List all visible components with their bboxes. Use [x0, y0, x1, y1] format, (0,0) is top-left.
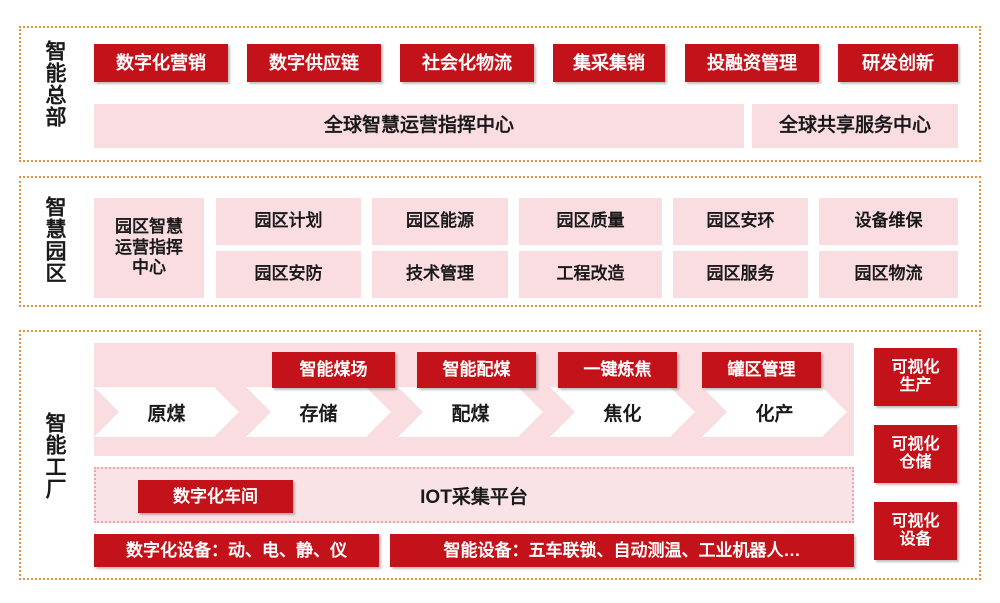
hq-band-global-shared-service[interactable]: 全球共享服务中心 — [752, 104, 958, 148]
viz-equipment-line-1: 可视化 — [891, 513, 939, 531]
park-cell-security[interactable]: 园区安防 — [216, 251, 361, 298]
park-cell-safety-env[interactable]: 园区安环 — [673, 198, 808, 245]
park-center-ops-command[interactable]: 园区智慧 运营指挥 中心 — [94, 198, 204, 298]
plant-system-smart-coal-yard[interactable]: 智能煤场 — [272, 352, 395, 388]
park-cell-plan[interactable]: 园区计划 — [216, 198, 361, 245]
park-cell-quality[interactable]: 园区质量 — [519, 198, 662, 245]
plant-viz-warehouse[interactable]: 可视化 仓储 — [874, 425, 957, 483]
viz-production-line-1: 可视化 — [891, 359, 939, 377]
hq-chip-centralized-trade[interactable]: 集采集销 — [553, 44, 665, 82]
plant-system-tank-farm-mgmt[interactable]: 罐区管理 — [702, 352, 821, 388]
hq-chip-rd-innovation[interactable]: 研发创新 — [838, 44, 958, 82]
park-center-line-3: 中心 — [115, 258, 183, 278]
hq-chip-investment-financing[interactable]: 投融资管理 — [685, 44, 819, 82]
diagram-root: 智能总部 数字化营销 数字供应链 社会化物流 集采集销 投融资管理 研发创新 全… — [0, 0, 1000, 603]
plant-system-one-click-coking[interactable]: 一键炼焦 — [558, 352, 677, 388]
hq-chip-social-logistics[interactable]: 社会化物流 — [400, 44, 534, 82]
park-cell-tech-mgmt[interactable]: 技术管理 — [372, 251, 508, 298]
plant-chip-digital-workshop[interactable]: 数字化车间 — [138, 480, 293, 513]
park-center-line-1: 园区智慧 — [115, 217, 183, 237]
park-cell-energy[interactable]: 园区能源 — [372, 198, 508, 245]
viz-warehouse-line-2: 仓储 — [891, 454, 939, 472]
flow-stage-label-coking: 焦化 — [550, 395, 695, 429]
park-cell-services[interactable]: 园区服务 — [673, 251, 808, 298]
section-label-park: 智慧园区 — [43, 196, 65, 284]
viz-equipment-line-2: 设备 — [891, 531, 939, 549]
flow-stage-label-blending: 配煤 — [398, 395, 543, 429]
plant-viz-equipment[interactable]: 可视化 设备 — [874, 502, 957, 560]
plant-bar-digital-equipment[interactable]: 数字化设备：动、电、静、仪 — [94, 534, 379, 567]
flow-stage-label-chemical: 化产 — [702, 395, 847, 429]
viz-production-line-2: 生产 — [891, 377, 939, 395]
flow-stage-label-raw-coal: 原煤 — [94, 395, 239, 429]
flow-stage-label-storage: 存储 — [246, 395, 391, 429]
section-label-hq: 智能总部 — [43, 40, 65, 128]
plant-system-smart-blending[interactable]: 智能配煤 — [417, 352, 536, 388]
park-center-line-2: 运营指挥 — [115, 238, 183, 258]
park-cell-equipment-maintenance[interactable]: 设备维保 — [819, 198, 958, 245]
park-cell-logistics[interactable]: 园区物流 — [819, 251, 958, 298]
plant-viz-production[interactable]: 可视化 生产 — [874, 348, 957, 406]
park-cell-engineering-retrofit[interactable]: 工程改造 — [519, 251, 662, 298]
hq-chip-digital-marketing[interactable]: 数字化营销 — [94, 44, 228, 82]
hq-band-global-ops-center[interactable]: 全球智慧运营指挥中心 — [94, 104, 744, 148]
section-label-plant: 智能工厂 — [43, 412, 65, 500]
viz-warehouse-line-1: 可视化 — [891, 436, 939, 454]
plant-bar-smart-equipment[interactable]: 智能设备：五车联锁、自动测温、工业机器人… — [390, 534, 854, 567]
hq-chip-digital-supply-chain[interactable]: 数字供应链 — [247, 44, 381, 82]
